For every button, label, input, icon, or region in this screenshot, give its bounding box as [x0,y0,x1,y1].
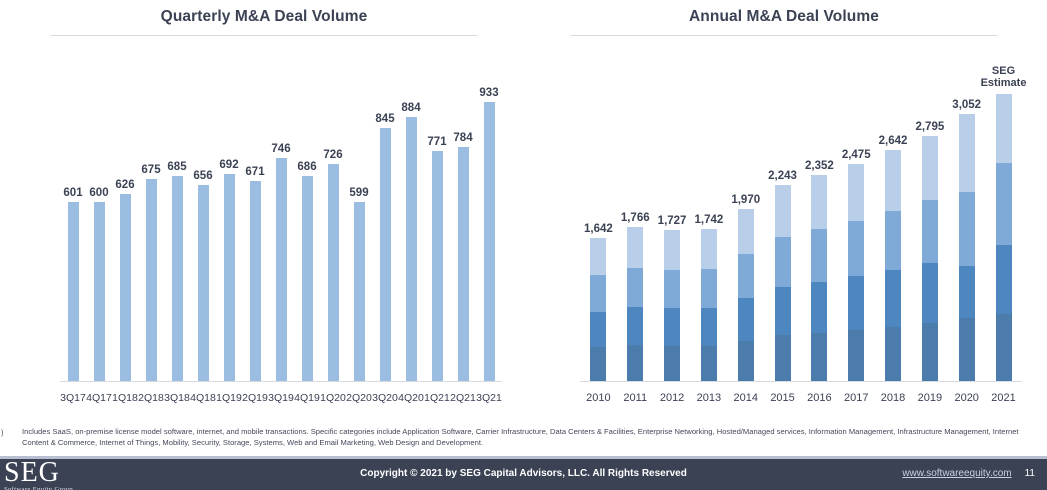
axis-label-2018: 2018 [875,392,912,404]
stacked-bar-column [738,209,754,382]
website-link[interactable]: www.softwareequity.com [902,468,1011,479]
annual-bar-2012: 1,727 [654,40,691,382]
stacked-bar-column [775,185,791,382]
stacked-bar-column [811,175,827,382]
annual-plot-area: 1,6421,7661,7271,7421,9702,2432,3522,475… [528,36,1040,420]
axis-label-2016: 2016 [801,392,838,404]
bar-column [68,202,79,382]
bar-column [406,117,417,382]
bar-column [302,176,313,382]
bar-segment-Q4 [775,185,791,237]
quarterly-chart-panel: Quarterly M&A Deal Volume 60160062667568… [8,0,520,420]
bar-column [120,194,131,382]
bar-value-label: 1,766 [621,212,650,224]
bar-segment-Q3 [885,211,901,270]
bar-segment-Q1 [701,346,717,382]
bar-value-label: 656 [193,170,212,182]
quarterly-bar-3Q18: 685 [164,40,190,382]
annual-bar-2017: 2,475 [838,40,875,382]
stacked-bar-column [627,227,643,382]
axis-label-4Q20: 4Q20 [398,392,424,404]
bar-value-label: 2,642 [879,135,908,147]
bar-value-label: 692 [219,159,238,171]
seg-estimate-note: SEGEstimate [981,65,1027,90]
seg-logo-tagline: Software Equity Group [4,486,73,490]
bar-segment-Q3 [590,275,606,311]
bar-segment-Q4 [664,230,680,270]
bar-value-label: 1,727 [658,215,687,227]
bar-segment-Q1 [996,314,1012,382]
stacked-bar-column [848,164,864,382]
footnote: ) Includes SaaS, on-premise license mode… [0,424,1047,454]
axis-label-2019: 2019 [911,392,948,404]
slide: Quarterly M&A Deal Volume 60160062667568… [0,0,1047,490]
annual-bar-2013: 1,742 [690,40,727,382]
axis-label-2014: 2014 [727,392,764,404]
bar-column [380,128,391,382]
bar-value-label: 746 [271,143,290,155]
stacked-bar-column [922,136,938,382]
annual-chart-title: Annual M&A Deal Volume [528,0,1040,26]
bar-value-label: 601 [63,187,82,199]
annual-bar-2019: 2,795 [911,40,948,382]
axis-label-3Q20: 3Q20 [372,392,398,404]
bar-segment-Q2 [701,308,717,346]
bar-column [172,176,183,382]
bar-column [198,185,209,382]
axis-label-2Q18: 2Q18 [138,392,164,404]
bar-value-label: 884 [401,102,420,114]
bar-segment-Q4 [590,238,606,275]
bar-column [484,102,495,382]
axis-label-4Q18: 4Q18 [190,392,216,404]
axis-label-2Q19: 2Q19 [242,392,268,404]
quarterly-bar-4Q20: 884 [398,40,424,382]
annual-bar-2014: 1,970 [727,40,764,382]
bar-segment-Q2 [996,245,1012,314]
bar-value-label: 675 [141,164,160,176]
bar-value-label: 933 [479,87,498,99]
quarterly-bar-1Q21: 771 [424,40,450,382]
bar-segment-Q2 [885,270,901,327]
axis-label-2020: 2020 [948,392,985,404]
bar-segment-Q1 [775,335,791,382]
bar-segment-Q1 [885,327,901,382]
quarterly-bar-4Q18: 656 [190,40,216,382]
quarterly-bar-3Q17: 601 [60,40,86,382]
quarterly-bars: 6016006266756856566926717466867265998458… [60,40,502,382]
bar-column [458,147,469,382]
axis-label-2011: 2011 [617,392,654,404]
axis-label-2Q21: 2Q21 [450,392,476,404]
bar-segment-Q1 [738,341,754,382]
page-number: 11 [1025,468,1035,479]
stacked-bar-column [701,229,717,382]
quarterly-axis-labels: 3Q174Q171Q182Q183Q184Q181Q192Q193Q194Q19… [60,392,502,404]
axis-label-2013: 2013 [690,392,727,404]
quarterly-bar-1Q20: 726 [320,40,346,382]
bar-segment-Q2 [811,282,827,333]
bar-segment-Q4 [701,229,717,269]
stacked-bar-column [885,150,901,382]
axis-label-2015: 2015 [764,392,801,404]
bar-segment-Q4 [885,150,901,211]
annual-chart-panel: Annual M&A Deal Volume 1,6421,7661,7271,… [528,0,1040,420]
axis-label-4Q17: 4Q17 [86,392,112,404]
axis-label-2010: 2010 [580,392,617,404]
stacked-bar-column: SEGEstimate [996,94,1012,382]
quarterly-bar-2Q19: 671 [242,40,268,382]
copyright-text: Copyright © 2021 by SEG Capital Advisors… [0,468,1047,479]
annual-bar-2021: 0SEGEstimate [985,40,1022,382]
stacked-bar-column [959,114,975,382]
bar-segment-Q2 [775,287,791,336]
bar-value-label: 2,352 [805,160,834,172]
axis-label-3Q17: 3Q17 [60,392,86,404]
quarterly-bar-3Q21: 933 [476,40,502,382]
bar-segment-Q4 [811,175,827,229]
bar-value-label: 600 [89,187,108,199]
axis-label-2012: 2012 [654,392,691,404]
quarterly-chart-title: Quarterly M&A Deal Volume [8,0,520,26]
bar-segment-Q3 [664,270,680,309]
annual-bars: 1,6421,7661,7271,7421,9702,2432,3522,475… [580,40,1022,382]
bar-column [224,174,235,382]
bar-segment-Q4 [922,136,938,200]
axis-label-2017: 2017 [838,392,875,404]
bar-segment-Q2 [959,266,975,319]
bar-value-label: 626 [115,179,134,191]
bar-value-label: 845 [375,113,394,125]
bar-segment-Q2 [922,263,938,324]
bar-segment-Q3 [775,237,791,287]
bar-value-label: 686 [297,161,316,173]
footnote-text: Includes SaaS, on-premise license model … [22,427,1019,447]
bar-segment-Q2 [664,308,680,345]
seg-estimate-line2: Estimate [981,77,1027,90]
quarterly-bar-4Q19: 686 [294,40,320,382]
bar-segment-Q3 [848,221,864,276]
bar-value-label: 726 [323,149,342,161]
axis-label-4Q19: 4Q19 [294,392,320,404]
quarterly-axis-line [60,381,502,382]
quarterly-bar-2Q21: 784 [450,40,476,382]
bar-segment-Q3 [996,163,1012,245]
bar-column [276,158,287,382]
bar-segment-Q3 [811,229,827,282]
quarterly-bar-1Q19: 692 [216,40,242,382]
axis-label-1Q21: 1Q21 [424,392,450,404]
annual-axis-labels: 2010201120122013201420152016201720182019… [580,392,1022,404]
stacked-bar-column [664,230,680,382]
bar-segment-Q2 [590,312,606,348]
bar-segment-Q2 [848,276,864,330]
bar-segment-Q3 [738,254,754,298]
bar-value-label: 1,970 [731,194,760,206]
seg-estimate-line1: SEG [981,65,1027,78]
bar-segment-Q4 [959,114,975,192]
bar-value-label: 671 [245,166,264,178]
bar-segment-Q2 [738,298,754,341]
bar-segment-Q1 [811,333,827,382]
quarterly-bar-2Q18: 675 [138,40,164,382]
axis-label-2021: 2021 [985,392,1022,404]
bar-value-label: 1,742 [695,214,724,226]
bar-column [432,151,443,382]
bar-segment-Q1 [664,346,680,382]
bar-value-label: 2,475 [842,149,871,161]
bar-value-label: 2,243 [768,170,797,182]
bar-value-label: 2,795 [915,121,944,133]
bar-segment-Q1 [590,347,606,382]
quarterly-bar-3Q20: 845 [372,40,398,382]
bar-segment-Q4 [738,209,754,254]
axis-label-1Q19: 1Q19 [216,392,242,404]
annual-axis-line [580,381,1022,382]
quarterly-bar-4Q17: 600 [86,40,112,382]
bar-value-label: 1,642 [584,223,613,235]
bar-segment-Q4 [627,227,643,268]
bar-segment-Q1 [627,345,643,382]
annual-bar-2020: 3,052 [948,40,985,382]
quarterly-plot-area: 6016006266756856566926717466867265998458… [8,36,520,420]
footnote-marker: ) [1,427,4,438]
axis-label-1Q20: 1Q20 [320,392,346,404]
bar-segment-Q3 [959,192,975,266]
footer-right: www.softwareequity.com 11 [902,468,1035,479]
bar-column [146,179,157,382]
annual-bar-2015: 2,243 [764,40,801,382]
annual-bar-2010: 1,642 [580,40,617,382]
bar-segment-Q4 [848,164,864,221]
bar-column [354,202,365,382]
bar-segment-Q4 [996,94,1012,163]
bar-value-label: 771 [427,136,446,148]
stacked-bar-column [590,238,606,382]
bar-column [328,164,339,382]
bar-value-label: 3,052 [952,99,981,111]
bar-segment-Q3 [922,200,938,263]
bar-segment-Q3 [627,268,643,307]
quarterly-bar-1Q18: 626 [112,40,138,382]
axis-label-3Q19: 3Q19 [268,392,294,404]
annual-bar-2011: 1,766 [617,40,654,382]
bar-value-label: 685 [167,161,186,173]
bar-column [94,202,105,382]
axis-label-3Q21: 3Q21 [476,392,502,404]
axis-label-3Q18: 3Q18 [164,392,190,404]
axis-label-1Q18: 1Q18 [112,392,138,404]
footer: SEG Software Equity Group Copyright © 20… [0,459,1047,490]
annual-bar-2018: 2,642 [875,40,912,382]
bar-segment-Q1 [848,330,864,382]
bar-column [250,181,261,382]
bar-value-label: 784 [453,132,472,144]
bar-segment-Q1 [959,318,975,382]
bar-segment-Q3 [701,269,717,308]
annual-bar-2016: 2,352 [801,40,838,382]
bar-segment-Q2 [627,307,643,345]
quarterly-bar-2Q20: 599 [346,40,372,382]
bar-segment-Q1 [922,323,938,382]
axis-label-2Q20: 2Q20 [346,392,372,404]
quarterly-bar-3Q19: 746 [268,40,294,382]
bar-value-label: 599 [349,187,368,199]
